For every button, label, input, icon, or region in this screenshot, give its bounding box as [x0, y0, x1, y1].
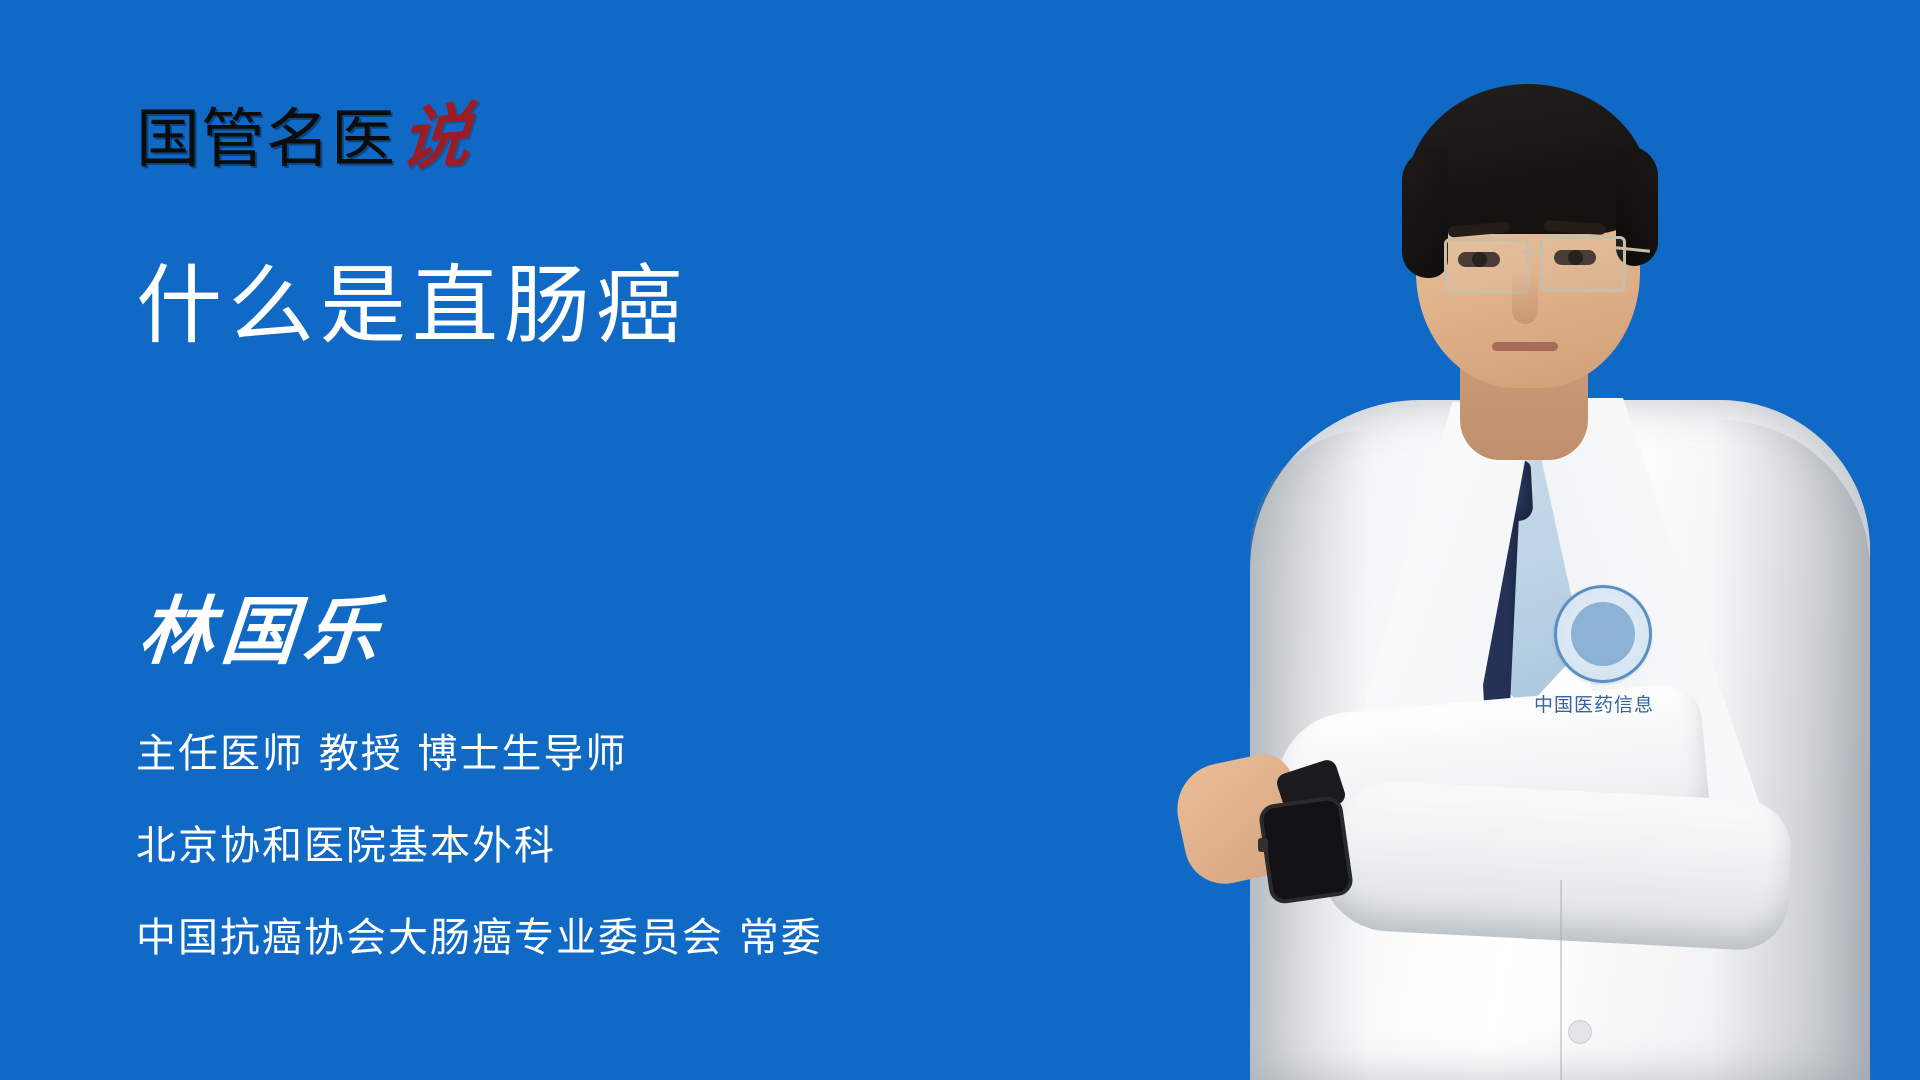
credential-line: 主任医师 教授 博士生导师 — [136, 730, 823, 778]
hospital-emblem-inner — [1571, 602, 1635, 666]
hospital-emblem-icon — [1554, 585, 1652, 683]
hospital-badge-text: 中国医药信息 — [1534, 690, 1744, 717]
credential-line: 中国抗癌协会大肠癌专业委员会 常委 — [136, 914, 823, 962]
brand-logo-accent: 说 — [398, 103, 473, 172]
speaker-name: 林国乐 — [136, 590, 389, 674]
credential-line: 北京协和医院基本外科 — [136, 822, 823, 870]
smartwatch-face — [1257, 795, 1354, 906]
eyeglasses-bridge — [1522, 250, 1542, 253]
lab-coat-seam — [1560, 880, 1562, 1080]
smartwatch-crown — [1258, 838, 1268, 852]
slide-canvas: 国管名医 说 什么是直肠癌 林国乐 主任医师 教授 博士生导师 北京协和医院基本… — [0, 0, 1920, 1080]
text-panel: 国管名医 说 什么是直肠癌 林国乐 主任医师 教授 博士生导师 北京协和医院基本… — [0, 0, 1180, 1080]
eyeglasses-lens-right — [1540, 236, 1626, 292]
brand-logo-text: 国管名医 — [136, 108, 396, 172]
mouth — [1492, 342, 1558, 351]
page-title: 什么是直肠癌 — [136, 258, 688, 354]
speaker-portrait: 中国医药信息 — [1130, 0, 1920, 1080]
speaker-credentials: 主任医师 教授 博士生导师 北京协和医院基本外科 中国抗癌协会大肠癌专业委员会 … — [136, 730, 823, 962]
arm-lower-crossed — [1316, 778, 1793, 952]
brand-logo: 国管名医 说 — [136, 96, 468, 172]
lab-coat-button — [1568, 1020, 1592, 1044]
hair-sideburn-left — [1402, 150, 1448, 278]
nose — [1512, 272, 1538, 324]
